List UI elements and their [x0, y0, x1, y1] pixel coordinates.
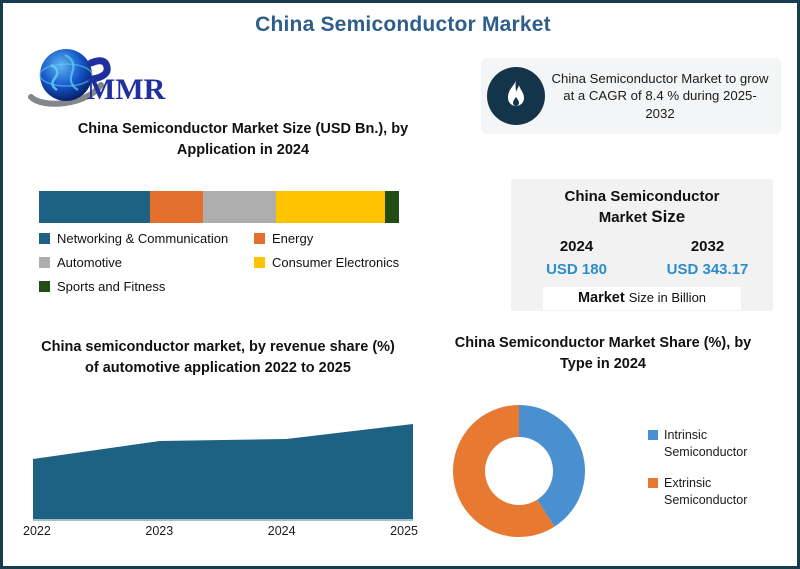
axis-tick-2024: 2024 [268, 524, 296, 538]
page-title: China Semiconductor Market [3, 13, 800, 37]
market-size-heading-word: Market [599, 209, 652, 226]
legend-label-networking: Networking & Communication [57, 231, 228, 246]
market-size-col-2024: 2024 USD 180 [511, 238, 642, 278]
mmr-logo-icon: MMR [25, 45, 170, 113]
bar-segment-automotive [203, 191, 276, 223]
market-size-values: 2024 USD 180 2032 USD 343.17 [511, 238, 773, 278]
legend-swatch-consumer-electronics [254, 257, 265, 268]
cagr-callout: China Semiconductor Market to grow at a … [481, 58, 781, 134]
legend-row: Sports and Fitness [39, 279, 459, 294]
legend-swatch-energy [254, 233, 265, 244]
legend-label-extrinsic: Extrinsic Semiconductor [664, 475, 788, 509]
bar-segment-networking [39, 191, 150, 223]
legend-label-energy: Energy [272, 231, 313, 246]
flame-icon [487, 67, 545, 125]
market-size-col-2032: 2032 USD 343.17 [642, 238, 773, 278]
stacked-bar-chart [39, 191, 399, 223]
legend-label-intrinsic: Intrinsic Semiconductor [664, 427, 788, 461]
legend-row: Automotive Consumer Electronics [39, 255, 459, 270]
area-chart-series [33, 424, 413, 521]
donut-chart-legend: Intrinsic Semiconductor Extrinsic Semico… [648, 427, 788, 523]
donut-chart-title: China Semiconductor Market Share (%), by… [443, 333, 763, 375]
legend-swatch-networking [39, 233, 50, 244]
legend-item-networking: Networking & Communication [39, 231, 254, 246]
infographic-canvas: China Semiconductor Market MMR [0, 0, 800, 569]
mmr-logo: MMR [25, 45, 170, 113]
bar-chart-legend: Networking & Communication Energy Automo… [39, 231, 459, 303]
market-size-unit-note: Market Size in Billion [543, 287, 741, 310]
legend-swatch-automotive [39, 257, 50, 268]
bar-segment-energy [150, 191, 203, 223]
area-chart-x-axis: 2022 2023 2024 2025 [23, 524, 418, 538]
donut-chart [451, 403, 587, 539]
legend-item-energy: Energy [254, 231, 313, 246]
legend-label-sports-fitness: Sports and Fitness [57, 279, 165, 294]
market-size-heading-line2: Market Size [511, 206, 773, 228]
legend-label-automotive: Automotive [57, 255, 122, 270]
legend-swatch-extrinsic [648, 478, 658, 488]
market-size-unit-rest: Size in Billion [629, 290, 706, 305]
donut-hole [485, 437, 553, 505]
area-chart-title: China semiconductor market, by revenue s… [33, 337, 403, 379]
legend-row: Networking & Communication Energy [39, 231, 459, 246]
cagr-text: China Semiconductor Market to grow at a … [551, 70, 773, 122]
bar-segment-sports-fitness [385, 191, 399, 223]
axis-tick-2022: 2022 [23, 524, 51, 538]
bar-segment-consumer-electronics [276, 191, 385, 223]
market-size-unit-bold: Market [578, 290, 629, 306]
bar-chart-title: China Semiconductor Market Size (USD Bn.… [63, 119, 423, 161]
axis-tick-2023: 2023 [145, 524, 173, 538]
legend-item-automotive: Automotive [39, 255, 254, 270]
market-size-year-2032: 2032 [642, 238, 773, 255]
legend-label-consumer-electronics: Consumer Electronics [272, 255, 399, 270]
area-chart [33, 403, 413, 521]
legend-item-consumer-electronics: Consumer Electronics [254, 255, 399, 270]
market-size-value-2024: USD 180 [511, 261, 642, 278]
market-size-heading-emph: Size [651, 207, 685, 226]
flame-glyph [501, 79, 531, 113]
legend-swatch-sports-fitness [39, 281, 50, 292]
legend-item-intrinsic: Intrinsic Semiconductor [648, 427, 788, 461]
svg-text:MMR: MMR [87, 73, 166, 106]
market-size-value-2032: USD 343.17 [642, 261, 773, 278]
market-size-panel: China Semiconductor Market Size 2024 USD… [511, 179, 773, 311]
legend-item-extrinsic: Extrinsic Semiconductor [648, 475, 788, 509]
legend-swatch-intrinsic [648, 430, 658, 440]
market-size-heading-line1: China Semiconductor [511, 187, 773, 206]
market-size-heading: China Semiconductor Market Size [511, 187, 773, 228]
axis-tick-2025: 2025 [390, 524, 418, 538]
market-size-year-2024: 2024 [511, 238, 642, 255]
legend-item-sports-fitness: Sports and Fitness [39, 279, 254, 294]
